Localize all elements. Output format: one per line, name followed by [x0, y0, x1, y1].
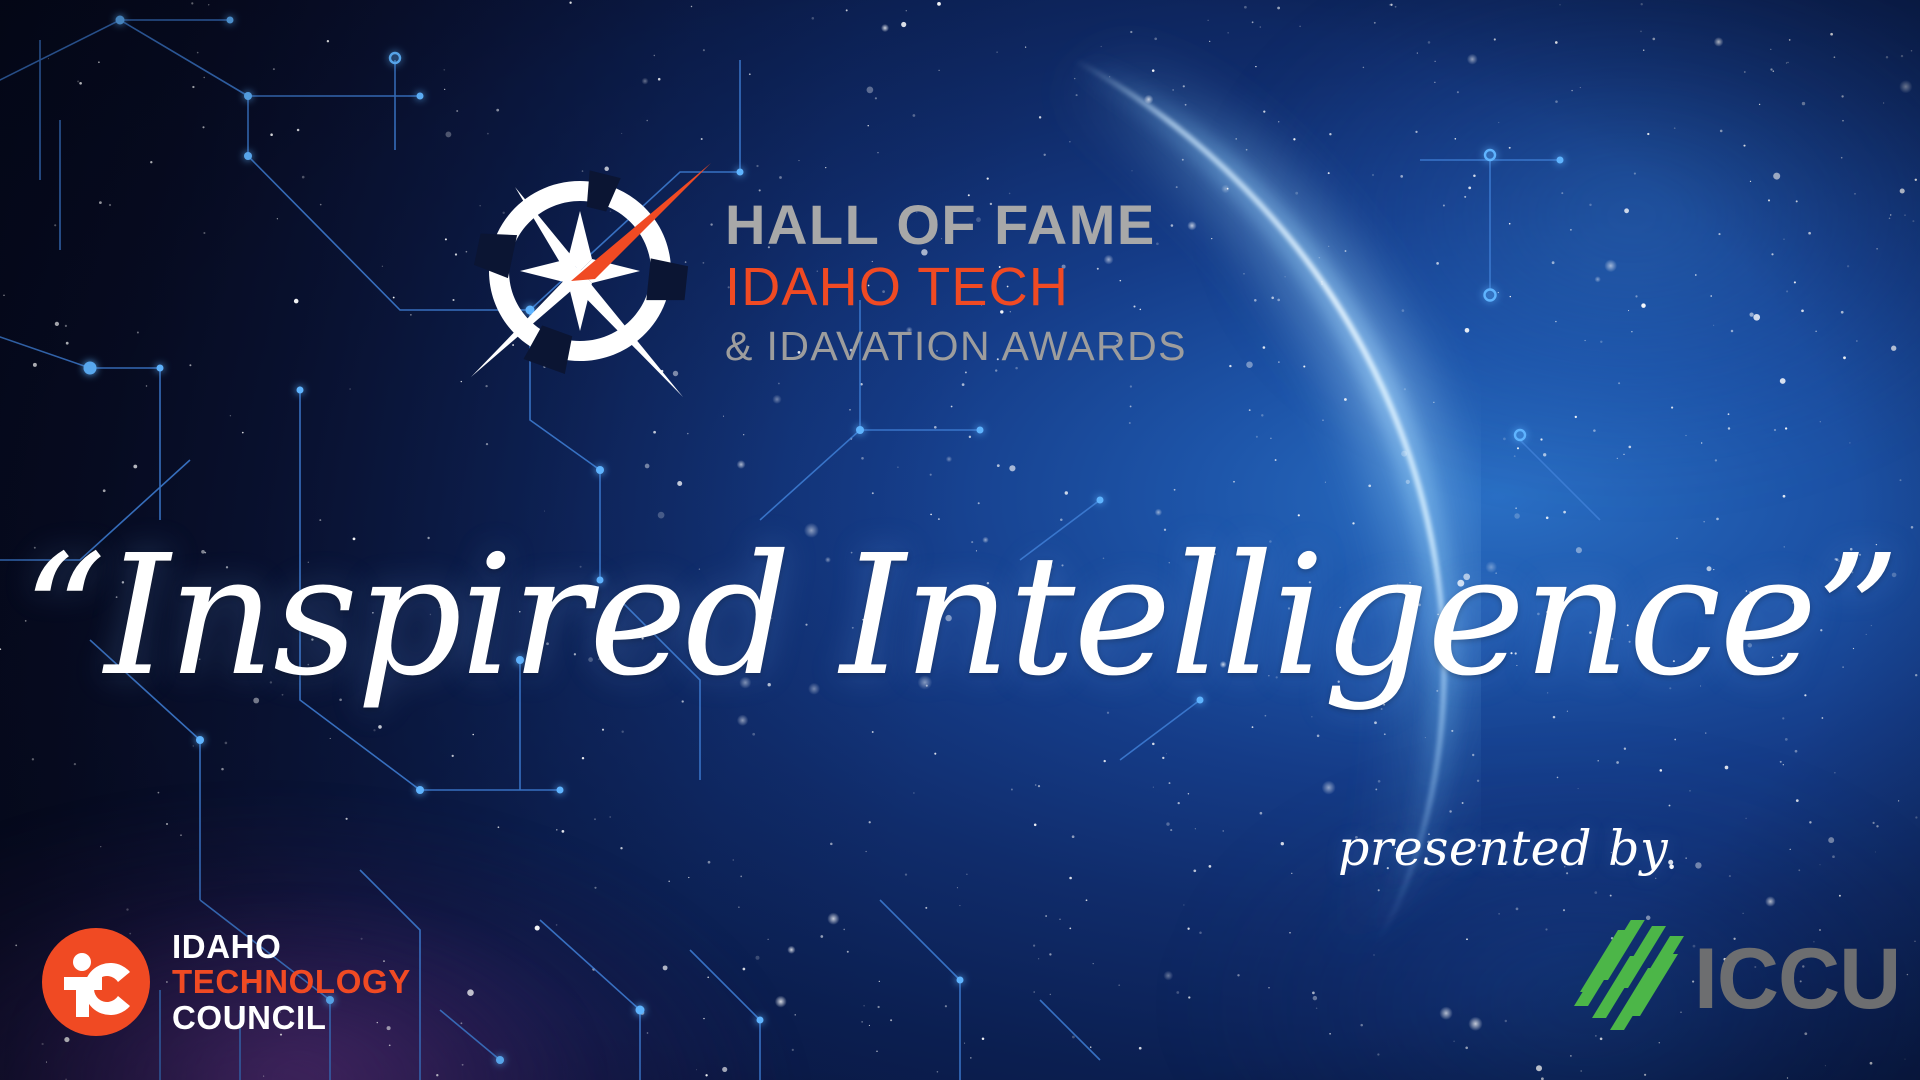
- logo-line-idavation-awards: & IDAVATION AWARDS: [725, 326, 1187, 367]
- itc-line-council: COUNCIL: [172, 1000, 411, 1035]
- idaho-technology-council-logo: IDAHO TECHNOLOGY COUNCIL: [42, 928, 411, 1036]
- presented-by-label: presented by: [1338, 820, 1668, 877]
- iccu-stripes-icon: [1568, 920, 1706, 1038]
- event-logo-text: HALL OF FAME IDAHO TECH & IDAVATION AWAR…: [725, 197, 1187, 367]
- itc-wordmark: IDAHO TECHNOLOGY COUNCIL: [172, 929, 411, 1035]
- iccu-wordmark: ICCU: [1694, 936, 1900, 1022]
- itc-line-idaho: IDAHO: [172, 929, 411, 964]
- compass-star-logo: [445, 159, 715, 409]
- iccu-logo: ICCU: [1568, 920, 1900, 1038]
- logo-line-hall-of-fame: HALL OF FAME: [725, 197, 1187, 253]
- itc-badge-icon: [42, 928, 150, 1036]
- itc-line-technology: TECHNOLOGY: [172, 964, 411, 999]
- event-title-card: HALL OF FAME IDAHO TECH & IDAVATION AWAR…: [0, 0, 1920, 1080]
- theme-headline: “Inspired Intelligence”: [0, 520, 1920, 713]
- logo-line-idaho-tech: IDAHO TECH: [725, 260, 1187, 314]
- event-logo-lockup: HALL OF FAME IDAHO TECH & IDAVATION AWAR…: [445, 155, 1187, 409]
